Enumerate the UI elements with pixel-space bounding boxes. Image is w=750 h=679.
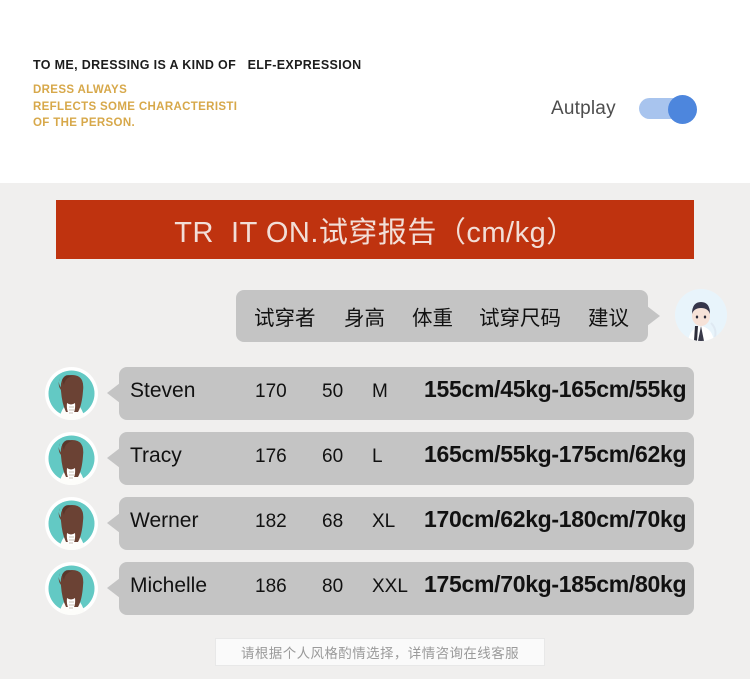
boy-avatar-icon (675, 289, 727, 341)
column-header-weight: 体重 (412, 301, 453, 331)
cell-recommendation: 165cm/55kg-175cm/62kg (424, 441, 686, 468)
cell-height: 182 (255, 511, 287, 533)
row-content-bar[interactable]: Werner 182 68 XL 170cm/62kg-180cm/70kg (119, 497, 694, 550)
cell-recommendation: 175cm/70kg-185cm/80kg (424, 571, 686, 598)
top-header-area: TO ME, DRESSING IS A KIND OF ELF-EXPRESS… (0, 0, 750, 183)
content-area: TR IT ON.试穿报告（cm/kg） 试穿者 身高 体重 试穿尺码 建议 (0, 183, 750, 679)
try-on-report-banner: TR IT ON.试穿报告（cm/kg） (56, 200, 694, 259)
table-header-row: 试穿者 身高 体重 试穿尺码 建议 (236, 290, 648, 342)
footer-note-text: 请根据个人风格酌情选择，详情咨询在线客服 (241, 642, 519, 662)
footer-note: 请根据个人风格酌情选择，详情咨询在线客服 (215, 638, 545, 666)
cell-height: 176 (255, 446, 287, 468)
girl-avatar-icon (45, 432, 98, 485)
banner-title: TR IT ON.试穿报告（cm/kg） (174, 209, 575, 251)
cell-recommendation: 155cm/45kg-165cm/55kg (424, 376, 686, 403)
autoplay-toggle-switch[interactable] (639, 95, 697, 122)
row-content-bar[interactable]: Steven 170 50 M 155cm/45kg-165cm/55kg (119, 367, 694, 420)
girl-avatar-svg (45, 432, 98, 485)
cell-size: M (372, 381, 388, 403)
cell-recommendation: 170cm/62kg-180cm/70kg (424, 506, 686, 533)
slogan-block: TO ME, DRESSING IS A KIND OF ELF-EXPRESS… (33, 58, 362, 132)
slogan-main-text: TO ME, DRESSING IS A KIND OF ELF-EXPRESS… (33, 58, 362, 72)
girl-avatar-svg (45, 562, 98, 615)
row-content-bar[interactable]: Tracy 176 60 L 165cm/55kg-175cm/62kg (119, 432, 694, 485)
autoplay-label: Autplay (551, 98, 616, 120)
column-header-size: 试穿尺码 (479, 301, 561, 331)
row-content-bar[interactable]: Michelle 186 80 XXL 175cm/70kg-185cm/80k… (119, 562, 694, 615)
column-header-advice: 建议 (588, 301, 629, 331)
column-header-height: 身高 (344, 301, 385, 331)
cell-name: Werner (130, 509, 198, 533)
cell-weight: 80 (322, 576, 343, 598)
toggle-knob[interactable] (668, 95, 697, 124)
cell-weight: 68 (322, 511, 343, 533)
cell-name: Tracy (130, 444, 182, 468)
cell-weight: 60 (322, 446, 343, 468)
girl-avatar-icon (45, 562, 98, 615)
girl-avatar-icon (45, 497, 98, 550)
girl-avatar-svg (45, 497, 98, 550)
cell-size: L (372, 446, 383, 468)
cell-height: 186 (255, 576, 287, 598)
cell-size: XL (372, 511, 395, 533)
cell-size: XXL (372, 576, 408, 598)
column-header-person: 试穿者 (254, 301, 316, 331)
cell-name: Michelle (130, 574, 207, 598)
girl-avatar-svg (45, 367, 98, 420)
boy-avatar-svg (675, 289, 727, 341)
autoplay-control[interactable]: Autplay (551, 95, 697, 122)
cell-weight: 50 (322, 381, 343, 403)
cell-height: 170 (255, 381, 287, 403)
slogan-sub-text: DRESS ALWAYS REFLECTS SOME CHARACTERISTI… (33, 82, 362, 132)
girl-avatar-icon (45, 367, 98, 420)
cell-name: Steven (130, 379, 195, 403)
